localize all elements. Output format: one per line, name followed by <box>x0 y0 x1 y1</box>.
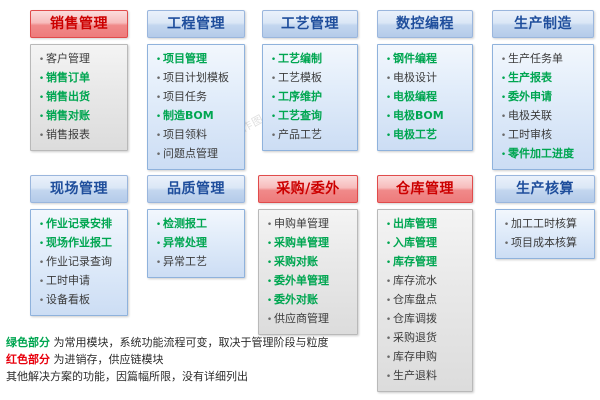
list-item-label: 项目管理 <box>163 50 240 67</box>
bullet-icon: • <box>37 109 46 126</box>
list-item-label: 电极关联 <box>508 107 589 124</box>
legend-row-green: 绿色部分 为常用模块，系统功能流程可变，取决于管理阶段与粒度 <box>6 334 426 351</box>
bullet-icon: • <box>269 71 278 88</box>
module-cnc: 数控编程•钢件编程•电极设计•电极编程•电极BOM•电极工艺 <box>377 10 473 151</box>
list-item-label: 供应商管理 <box>274 310 353 327</box>
list-item-label: 电极编程 <box>393 88 468 105</box>
bullet-icon: • <box>502 236 511 253</box>
bullet-icon: • <box>154 217 163 234</box>
list-item[interactable]: •委外单管理 <box>265 272 353 291</box>
list-item-label: 销售报表 <box>46 126 123 143</box>
bullet-icon: • <box>384 90 393 107</box>
list-item[interactable]: •销售对账 <box>37 107 123 126</box>
bullet-icon: • <box>37 71 46 88</box>
module-header-manufacturing[interactable]: 生产制造 <box>492 10 594 38</box>
list-item-label: 采购对账 <box>274 253 353 270</box>
bullet-icon: • <box>384 312 393 329</box>
list-item[interactable]: •采购单管理 <box>265 234 353 253</box>
list-item-label: 委外申请 <box>508 88 589 105</box>
list-item-label: 现场作业报工 <box>46 234 123 251</box>
module-manufacturing: 生产制造•生产任务单•生产报表•委外申请•电极关联•工时审核•零件加工进度 <box>492 10 594 170</box>
list-item-label: 销售订单 <box>46 69 123 86</box>
list-item[interactable]: •库存管理 <box>384 253 468 272</box>
module-header-sales[interactable]: 销售管理 <box>30 10 128 38</box>
list-item-label: 异常处理 <box>163 234 240 251</box>
list-item-label: 作业记录安排 <box>46 215 123 232</box>
list-item-label: 委外单管理 <box>274 272 353 289</box>
list-item[interactable]: •库存流水 <box>384 272 468 291</box>
bullet-icon: • <box>37 52 46 69</box>
list-item-label: 申购单管理 <box>274 215 353 232</box>
list-item-label: 工艺模板 <box>278 69 353 86</box>
bullet-icon: • <box>154 109 163 126</box>
bullet-icon: • <box>154 71 163 88</box>
list-item[interactable]: •现场作业报工 <box>37 234 123 253</box>
module-header-process[interactable]: 工艺管理 <box>262 10 358 38</box>
list-item-label: 钢件编程 <box>393 50 468 67</box>
list-item[interactable]: •作业记录查询 <box>37 253 123 272</box>
list-item-label: 客户管理 <box>46 50 123 67</box>
bullet-icon: • <box>265 217 274 234</box>
list-item[interactable]: •零件加工进度 <box>499 145 589 164</box>
bullet-icon: • <box>154 128 163 145</box>
legend-green-text: 为常用模块，系统功能流程可变，取决于管理阶段与粒度 <box>54 336 329 349</box>
bullet-icon: • <box>384 274 393 291</box>
module-header-purchasing[interactable]: 采购/委外 <box>258 175 358 203</box>
list-item[interactable]: •问题点管理 <box>154 145 240 164</box>
list-item[interactable]: •采购对账 <box>265 253 353 272</box>
bullet-icon: • <box>499 52 508 69</box>
list-item-label: 工时审核 <box>508 126 589 143</box>
list-item[interactable]: •项目管理 <box>154 50 240 69</box>
bullet-icon: • <box>154 52 163 69</box>
bullet-icon: • <box>499 71 508 88</box>
list-item[interactable]: •设备看板 <box>37 291 123 310</box>
bullet-icon: • <box>265 274 274 291</box>
list-item-label: 销售对账 <box>46 107 123 124</box>
module-list-manufacturing: •生产任务单•生产报表•委外申请•电极关联•工时审核•零件加工进度 <box>492 44 594 170</box>
bullet-icon: • <box>37 217 46 234</box>
list-item-label: 项目任务 <box>163 88 240 105</box>
list-item-label: 产品工艺 <box>278 126 353 143</box>
bullet-icon: • <box>265 236 274 253</box>
list-item[interactable]: •生产报表 <box>499 69 589 88</box>
list-item[interactable]: •检测报工 <box>154 215 240 234</box>
list-item[interactable]: •项目成本核算 <box>502 234 590 253</box>
list-item-label: 仓库调拨 <box>393 310 468 327</box>
list-item[interactable]: •项目计划模板 <box>154 69 240 88</box>
legend-red-keyword: 红色部分 <box>6 353 50 366</box>
list-item[interactable]: •电极设计 <box>384 69 468 88</box>
module-list-quality: •检测报工•异常处理•异常工艺 <box>147 209 245 278</box>
list-item-label: 加工工时核算 <box>511 215 590 232</box>
bullet-icon: • <box>154 236 163 253</box>
module-costing: 生产核算•加工工时核算•项目成本核算 <box>495 175 595 259</box>
module-header-cnc[interactable]: 数控编程 <box>377 10 473 38</box>
list-item[interactable]: •仓库盘点 <box>384 291 468 310</box>
legend-row-note: 其他解决方案的功能，因篇幅所限，没有详细列出 <box>6 368 426 385</box>
module-shopfloor: 现场管理•作业记录安排•现场作业报工•作业记录查询•工时申请•设备看板 <box>30 175 128 316</box>
bullet-icon: • <box>384 109 393 126</box>
list-item[interactable]: •客户管理 <box>37 50 123 69</box>
list-item-label: 工艺查询 <box>278 107 353 124</box>
module-quality: 品质管理•检测报工•异常处理•异常工艺 <box>147 175 245 278</box>
list-item[interactable]: •工艺模板 <box>269 69 353 88</box>
list-item[interactable]: •委外对账 <box>265 291 353 310</box>
list-item-label: 电极BOM <box>393 107 468 124</box>
module-header-quality[interactable]: 品质管理 <box>147 175 245 203</box>
list-item-label: 委外对账 <box>274 291 353 308</box>
list-item-label: 仓库盘点 <box>393 291 468 308</box>
list-item-label: 销售出货 <box>46 88 123 105</box>
bullet-icon: • <box>265 293 274 310</box>
list-item[interactable]: •电极工艺 <box>384 126 468 145</box>
bullet-icon: • <box>499 109 508 126</box>
module-sales: 销售管理•客户管理•销售订单•销售出货•销售对账•销售报表 <box>30 10 128 151</box>
list-item[interactable]: •销售出货 <box>37 88 123 107</box>
list-item-label: 电极设计 <box>393 69 468 86</box>
module-header-shopfloor[interactable]: 现场管理 <box>30 175 128 203</box>
list-item[interactable]: •制造BOM <box>154 107 240 126</box>
list-item-label: 制造BOM <box>163 107 240 124</box>
bullet-icon: • <box>265 255 274 272</box>
module-purchasing: 采购/委外•申购单管理•采购单管理•采购对账•委外单管理•委外对账•供应商管理 <box>258 175 358 335</box>
legend-row-red: 红色部分 为进销存，供应链模块 <box>6 351 426 368</box>
list-item[interactable]: •电极编程 <box>384 88 468 107</box>
bullet-icon: • <box>269 52 278 69</box>
bullet-icon: • <box>269 109 278 126</box>
module-header-engineering[interactable]: 工程管理 <box>147 10 245 38</box>
list-item[interactable]: •出库管理 <box>384 215 468 234</box>
module-list-engineering: •项目管理•项目计划模板•项目任务•制造BOM•项目领料•问题点管理 <box>147 44 245 170</box>
bullet-icon: • <box>265 312 274 329</box>
bullet-icon: • <box>37 274 46 291</box>
legend: 绿色部分 为常用模块，系统功能流程可变，取决于管理阶段与粒度 红色部分 为进销存… <box>6 334 426 385</box>
bullet-icon: • <box>499 90 508 107</box>
list-item-label: 检测报工 <box>163 215 240 232</box>
list-item-label: 零件加工进度 <box>508 145 589 162</box>
legend-note-text: 其他解决方案的功能，因篇幅所限，没有详细列出 <box>6 370 248 383</box>
list-item[interactable]: •工时审核 <box>499 126 589 145</box>
bullet-icon: • <box>154 90 163 107</box>
module-engineering: 工程管理•项目管理•项目计划模板•项目任务•制造BOM•项目领料•问题点管理 <box>147 10 245 170</box>
list-item-label: 项目成本核算 <box>511 234 590 251</box>
list-item[interactable]: •工艺编制 <box>269 50 353 69</box>
bullet-icon: • <box>384 128 393 145</box>
module-list-purchasing: •申购单管理•采购单管理•采购对账•委外单管理•委外对账•供应商管理 <box>258 209 358 335</box>
module-list-process: •工艺编制•工艺模板•工序维护•工艺查询•产品工艺 <box>262 44 358 151</box>
list-item[interactable]: •供应商管理 <box>265 310 353 329</box>
bullet-icon: • <box>269 90 278 107</box>
bullet-icon: • <box>154 255 163 272</box>
list-item-label: 工艺编制 <box>278 50 353 67</box>
bullet-icon: • <box>384 255 393 272</box>
list-item-label: 问题点管理 <box>163 145 240 162</box>
module-list-shopfloor: •作业记录安排•现场作业报工•作业记录查询•工时申请•设备看板 <box>30 209 128 316</box>
list-item-label: 工时申请 <box>46 272 123 289</box>
bullet-icon: • <box>384 71 393 88</box>
module-list-costing: •加工工时核算•项目成本核算 <box>495 209 595 259</box>
list-item[interactable]: •入库管理 <box>384 234 468 253</box>
bullet-icon: • <box>154 147 163 164</box>
list-item-label: 工序维护 <box>278 88 353 105</box>
list-item-label: 异常工艺 <box>163 253 240 270</box>
list-item[interactable]: •产品工艺 <box>269 126 353 145</box>
bullet-icon: • <box>502 217 511 234</box>
list-item[interactable]: •销售订单 <box>37 69 123 88</box>
bullet-icon: • <box>37 90 46 107</box>
list-item[interactable]: •钢件编程 <box>384 50 468 69</box>
module-list-sales: •客户管理•销售订单•销售出货•销售对账•销售报表 <box>30 44 128 151</box>
bullet-icon: • <box>37 128 46 145</box>
list-item[interactable]: •工序维护 <box>269 88 353 107</box>
diagram-canvas: 五易云软件作图 销售管理•客户管理•销售订单•销售出货•销售对账•销售报表工程管… <box>0 0 600 400</box>
bullet-icon: • <box>37 293 46 310</box>
bullet-icon: • <box>37 255 46 272</box>
list-item-label: 生产任务单 <box>508 50 589 67</box>
list-item-label: 项目领料 <box>163 126 240 143</box>
list-item[interactable]: •项目任务 <box>154 88 240 107</box>
legend-red-text: 为进销存，供应链模块 <box>54 353 164 366</box>
list-item[interactable]: •项目领料 <box>154 126 240 145</box>
list-item[interactable]: •工时申请 <box>37 272 123 291</box>
list-item-label: 项目计划模板 <box>163 69 240 86</box>
module-list-cnc: •钢件编程•电极设计•电极编程•电极BOM•电极工艺 <box>377 44 473 151</box>
list-item[interactable]: •生产任务单 <box>499 50 589 69</box>
list-item-label: 库存流水 <box>393 272 468 289</box>
module-header-warehouse[interactable]: 仓库管理 <box>377 175 473 203</box>
list-item-label: 入库管理 <box>393 234 468 251</box>
list-item[interactable]: •销售报表 <box>37 126 123 145</box>
list-item[interactable]: •工艺查询 <box>269 107 353 126</box>
bullet-icon: • <box>384 293 393 310</box>
list-item-label: 作业记录查询 <box>46 253 123 270</box>
bullet-icon: • <box>499 128 508 145</box>
list-item-label: 出库管理 <box>393 215 468 232</box>
legend-green-keyword: 绿色部分 <box>6 336 50 349</box>
list-item-label: 电极工艺 <box>393 126 468 143</box>
list-item[interactable]: •作业记录安排 <box>37 215 123 234</box>
list-item[interactable]: •加工工时核算 <box>502 215 590 234</box>
list-item-label: 设备看板 <box>46 291 123 308</box>
list-item[interactable]: •异常工艺 <box>154 253 240 272</box>
bullet-icon: • <box>384 236 393 253</box>
list-item[interactable]: •异常处理 <box>154 234 240 253</box>
list-item-label: 采购单管理 <box>274 234 353 251</box>
module-header-costing[interactable]: 生产核算 <box>495 175 595 203</box>
list-item[interactable]: •电极BOM <box>384 107 468 126</box>
bullet-icon: • <box>37 236 46 253</box>
list-item[interactable]: •委外申请 <box>499 88 589 107</box>
bullet-icon: • <box>384 217 393 234</box>
list-item-label: 库存管理 <box>393 253 468 270</box>
module-process: 工艺管理•工艺编制•工艺模板•工序维护•工艺查询•产品工艺 <box>262 10 358 151</box>
list-item-label: 生产报表 <box>508 69 589 86</box>
bullet-icon: • <box>384 52 393 69</box>
list-item[interactable]: •仓库调拨 <box>384 310 468 329</box>
list-item[interactable]: •申购单管理 <box>265 215 353 234</box>
bullet-icon: • <box>269 128 278 145</box>
bullet-icon: • <box>499 147 508 164</box>
list-item[interactable]: •电极关联 <box>499 107 589 126</box>
